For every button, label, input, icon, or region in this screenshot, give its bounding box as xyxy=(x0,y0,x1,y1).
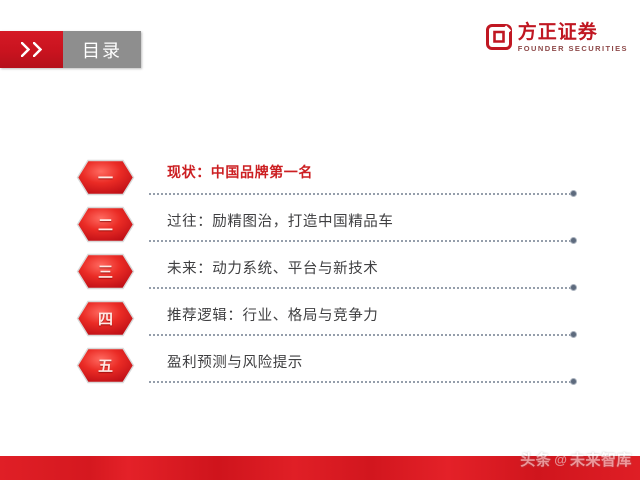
double-chevron-right-icon xyxy=(0,31,63,68)
page-title: 目录 xyxy=(82,37,122,63)
agenda-number-badge: 三 xyxy=(76,253,135,290)
agenda-number-text: 二 xyxy=(76,206,135,243)
agenda-dotted-rule xyxy=(148,193,572,195)
agenda-dotted-rule xyxy=(148,334,572,336)
agenda-number-text: 三 xyxy=(76,253,135,290)
agenda-number-badge: 二 xyxy=(76,206,135,243)
agenda-rule-end-dot xyxy=(570,284,577,291)
agenda-item-1[interactable]: 一 现状：中国品牌第一名 xyxy=(0,155,640,202)
agenda-item-4[interactable]: 四 推荐逻辑：行业、格局与竞争力 xyxy=(0,296,640,343)
agenda-dotted-rule xyxy=(148,287,572,289)
logo-name-en: FOUNDER SECURITIES xyxy=(518,44,628,53)
founder-hexagon-logo-icon xyxy=(486,24,512,50)
agenda-rule-end-dot xyxy=(570,378,577,385)
agenda-number-text: 五 xyxy=(76,347,135,384)
agenda-dotted-rule xyxy=(148,381,572,383)
bottom-red-band xyxy=(0,456,640,480)
logo-wordmark: 方正证券 FOUNDER SECURITIES xyxy=(518,22,628,53)
agenda-list: 一 现状：中国品牌第一名 二 xyxy=(0,155,640,390)
slide-header-bar: 目录 xyxy=(0,31,141,68)
agenda-item-label: 推荐逻辑：行业、格局与竞争力 xyxy=(167,304,378,325)
agenda-rule-end-dot xyxy=(570,237,577,244)
agenda-number-text: 四 xyxy=(76,300,135,337)
company-logo: 方正证券 FOUNDER SECURITIES xyxy=(486,22,628,53)
slide-title-block: 目录 xyxy=(63,31,141,68)
agenda-rule-end-dot xyxy=(570,190,577,197)
agenda-item-label: 过往：励精图治，打造中国精品车 xyxy=(167,210,394,231)
slide-canvas: 目录 方正证券 FOUNDER SECURITIES xyxy=(0,0,640,480)
agenda-number-badge: 四 xyxy=(76,300,135,337)
agenda-number-badge: 五 xyxy=(76,347,135,384)
logo-name-cn: 方正证券 xyxy=(518,22,598,42)
agenda-item-5[interactable]: 五 盈利预测与风险提示 xyxy=(0,343,640,390)
agenda-item-label: 现状：中国品牌第一名 xyxy=(167,162,313,182)
agenda-rule-end-dot xyxy=(570,331,577,338)
agenda-number-text: 一 xyxy=(76,159,135,196)
agenda-item-label: 盈利预测与风险提示 xyxy=(167,351,303,372)
agenda-item-label: 未来：动力系统、平台与新技术 xyxy=(167,257,378,278)
agenda-number-badge: 一 xyxy=(76,159,135,196)
agenda-item-3[interactable]: 三 未来：动力系统、平台与新技术 xyxy=(0,249,640,296)
agenda-dotted-rule xyxy=(148,240,572,242)
agenda-item-2[interactable]: 二 过往：励精图治，打造中国精品车 xyxy=(0,202,640,249)
